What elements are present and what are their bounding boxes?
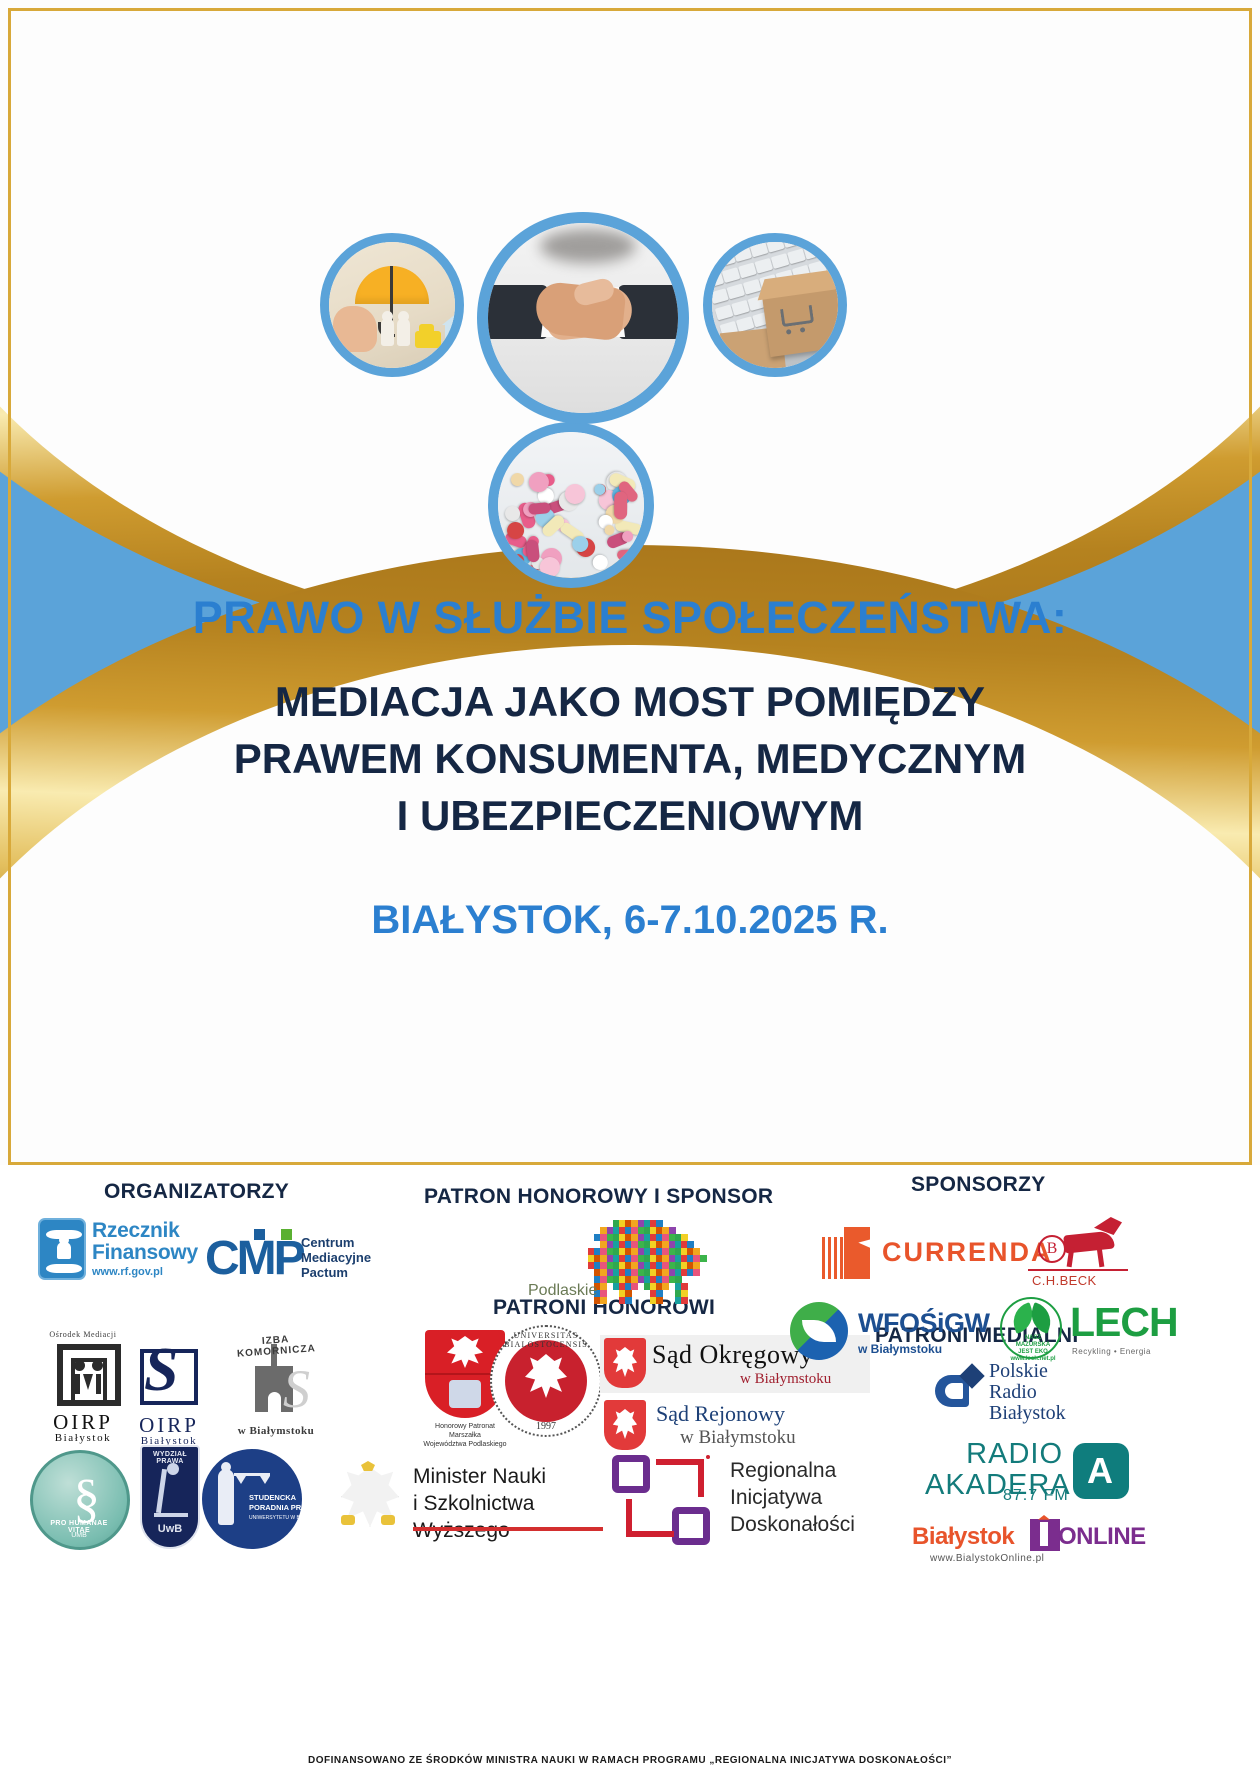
polskie-radio-wordmark: Polskie Radio Białystok xyxy=(989,1361,1066,1424)
uwb-year-label: 1997 xyxy=(490,1421,602,1432)
funding-footnote: DOFINANSOWANO ZE ŚRODKÓW MINISTRA NAUKI … xyxy=(0,1755,1260,1766)
poster-root: PRAWO W SŁUŻBIE SPOŁECZEŃSTWA: MEDIACJA … xyxy=(0,0,1260,1782)
sponsor-logo-strip: ORGANIZATORZY PATRON HONOROWY I SPONSOR … xyxy=(0,1165,1260,1782)
sad-rejonowy-label: Sąd Rejonowy xyxy=(656,1401,785,1427)
pills-medicine-icon xyxy=(498,432,644,578)
rid-mark-icon xyxy=(612,1453,722,1545)
logo-sad-rejonowy: Sąd Rejonowy w Białymstoku xyxy=(600,1397,870,1455)
izba-arc-bottom-label: w Białymstoku xyxy=(222,1425,330,1437)
radio-akadera-a-icon: A xyxy=(1073,1443,1129,1499)
subtitle-line-2: PRAWEM KONSUMENTA, MEDYCZNYM xyxy=(0,730,1260,787)
logo-ch-beck: B C.H.BECK xyxy=(1018,1213,1136,1293)
rid-wordmark: Regionalna Inicjatywa Doskonałości xyxy=(730,1457,855,1538)
ch-beck-griffin-icon: B xyxy=(1036,1215,1120,1269)
poster-subtitle: MEDIACJA JAKO MOST POMIĘDZY PRAWEM KONSU… xyxy=(0,673,1260,844)
subtitle-line-1: MEDIACJA JAKO MOST POMIĘDZY xyxy=(0,673,1260,730)
cmp-square-green-icon xyxy=(281,1229,292,1240)
bialystok-online-url: www.BialystokOnline.pl xyxy=(930,1553,1044,1564)
podlaskie-bison-icon xyxy=(588,1220,706,1304)
logo-polskie-radio-bialystok: Polskie Radio Białystok xyxy=(935,1361,1135,1431)
spp-label: STUDENCKA PORADNIA PRAWNA UNIWERSYTETU W… xyxy=(249,1493,332,1523)
gold-frame-border xyxy=(8,8,1252,1165)
sad-okregowy-eagle-icon xyxy=(604,1338,646,1388)
minister-nauki-eagle-icon xyxy=(335,1457,403,1535)
logo-bialystok-online: Białystok ONLINE www.BialystokOnline.pl xyxy=(912,1523,1142,1571)
heading-sponsorzy: SPONSORZY xyxy=(911,1173,1046,1197)
subtitle-line-3: I UBEZPIECZENIOWYM xyxy=(0,787,1260,844)
cmp-square-blue-icon xyxy=(254,1229,265,1240)
polskie-radio-mark-icon xyxy=(935,1367,983,1415)
uwb-arc-label: UNIVERSITAS BIALOSTOCENSIS xyxy=(490,1331,602,1349)
lech-wordmark: LECH xyxy=(1070,1299,1178,1346)
logo-rid: Regionalna Inicjatywa Doskonałości xyxy=(612,1453,872,1553)
handshake-icon xyxy=(488,223,678,413)
osrodek-mediacji-caption: Ośrodek Mediacji xyxy=(33,1330,133,1339)
logo-oirp-bialystok: S OIRP Białystok xyxy=(124,1337,214,1442)
logo-radio-akadera: RADIO AKADERA 87.7 FM A xyxy=(925,1437,1135,1509)
sad-okregowy-city-label: w Białymstoku xyxy=(740,1371,831,1388)
package-ecommerce-icon xyxy=(712,242,838,368)
insurance-circle-image xyxy=(320,233,464,377)
logo-minister-nauki: Minister Nauki i Szkolnictwa Wyższego xyxy=(335,1455,615,1551)
poster-title-primary: PRAWO W SŁUŻBIE SPOŁECZEŃSTWA: xyxy=(0,592,1260,644)
rzecznik-finansowy-url: www.rf.gov.pl xyxy=(92,1266,163,1278)
umb-label: UMB xyxy=(42,1532,116,1539)
circle-image-cluster xyxy=(0,200,1260,580)
radio-akadera-frequency: 87.7 FM xyxy=(1003,1487,1069,1505)
cmp-wordmark: Centrum Mediacyjne Pactum xyxy=(301,1235,371,1280)
rzecznik-finansowy-mark-icon xyxy=(38,1218,86,1280)
uwb-seal-icon xyxy=(505,1340,587,1422)
minister-nauki-wordmark: Minister Nauki i Szkolnictwa Wyższego xyxy=(413,1463,615,1544)
logo-cmp: CMP Centrum Mediacyjne Pactum xyxy=(205,1223,385,1289)
bialystok-online-wordmark-2: ONLINE xyxy=(1058,1523,1146,1551)
wfosigw-city-label: w Białymstoku xyxy=(858,1342,942,1356)
logo-studencka-poradnia-prawna: STUDENCKA PORADNIA PRAWNA UNIWERSYTETU W… xyxy=(202,1449,332,1553)
sad-rejonowy-eagle-icon xyxy=(604,1400,646,1450)
logo-currenda: CURRENDA xyxy=(822,1223,1032,1283)
ch-beck-wordmark: C.H.BECK xyxy=(1032,1273,1097,1288)
logo-podlaskie: Podlaskie xyxy=(528,1220,728,1310)
heading-patron-honorowy-sponsor: PATRON HONOROWY I SPONSOR xyxy=(424,1185,773,1209)
poster-art-board xyxy=(0,0,1260,1165)
logo-izba-komornicza: S IZBA KOMORNICZA w Białymstoku xyxy=(216,1333,332,1445)
package-circle-image xyxy=(703,233,847,377)
logo-wfosigw: WFOŚiGW w Białymstoku xyxy=(790,1300,1020,1366)
logo-lech: NASZ MAZURSKA JEST EKO www.lech.net.pl L… xyxy=(1000,1295,1200,1367)
rzecznik-finansowy-label: Rzecznik Finansowy xyxy=(92,1220,198,1264)
bialystok-online-wordmark-1: Białystok xyxy=(912,1523,1014,1551)
event-date-location: BIAŁYSTOK, 6-7.10.2025 R. xyxy=(0,898,1260,943)
umbrella-insurance-icon xyxy=(329,242,455,368)
lech-tagline: Recykling • Energia xyxy=(1072,1347,1151,1356)
oirp-city-label: Białystok xyxy=(33,1432,133,1444)
handshake-circle-image xyxy=(477,212,689,424)
pills-circle-image xyxy=(488,422,654,588)
bialystok-online-badge-icon xyxy=(1030,1519,1060,1551)
sad-rejonowy-city-label: w Białymstoku xyxy=(680,1427,796,1449)
logo-pro-humanae-vitae: § PRO HUMANAE VITAE UMB xyxy=(28,1448,136,1556)
wfosigw-mark-icon xyxy=(790,1302,848,1360)
wfosigw-wordmark: WFOŚiGW xyxy=(858,1308,989,1339)
lech-leaf-icon: NASZ MAZURSKA JEST EKO www.lech.net.pl xyxy=(1000,1297,1062,1359)
minister-nauki-rule xyxy=(413,1527,603,1531)
logo-wydzial-prawa: WYDZIAŁ PRAWA UwB xyxy=(126,1443,214,1561)
podlaskie-label: Podlaskie xyxy=(528,1282,597,1300)
wydzial-prawa-shield-icon: WYDZIAŁ PRAWA UwB xyxy=(140,1445,200,1549)
izba-arc-top-label: IZBA KOMORNICZA xyxy=(221,1331,330,1360)
heading-organizatorzy: ORGANIZATORZY xyxy=(104,1180,289,1204)
logo-oirp-osrodek-mediacji: Ośrodek Mediacji OIRP Białystok xyxy=(33,1330,133,1440)
logo-uniwersytet-bialystok: UNIVERSITAS BIALOSTOCENSIS 1997 xyxy=(490,1325,605,1440)
currenda-mark-icon xyxy=(822,1227,870,1279)
